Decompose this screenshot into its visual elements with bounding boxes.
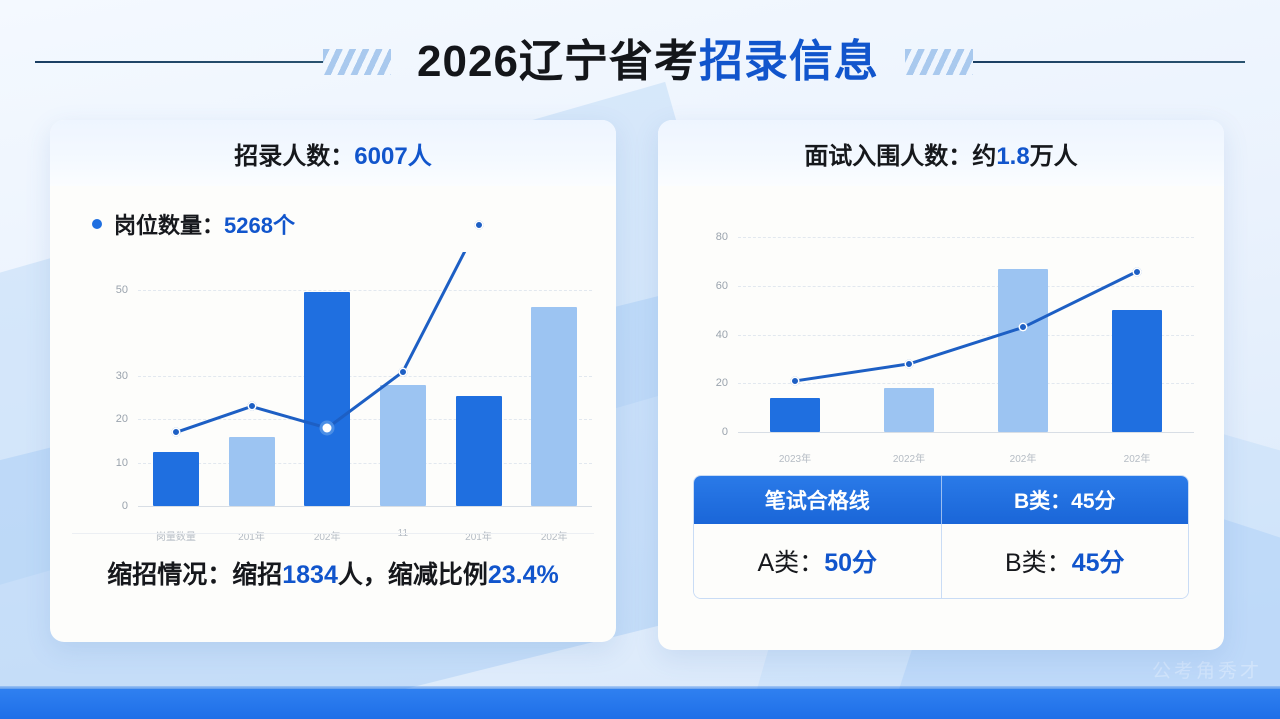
page-title: 2026辽宁省考招录信息 [417, 40, 879, 84]
table-cell-class-a: A类：50分 [694, 524, 942, 598]
left-card-title-label: 招录人数： [234, 143, 354, 170]
trend-point [398, 367, 407, 376]
table-header-cell-2: B类：45分 [942, 476, 1189, 524]
trend-point [247, 402, 256, 411]
trend-point [1133, 267, 1142, 276]
right-card-header: 面试入围人数：约1.8万人 [658, 120, 1224, 186]
trend-point [474, 220, 483, 229]
interview-shortlist-card: 面试入围人数：约1.8万人 0204060802023年2022年202年202… [658, 120, 1224, 650]
title-hatch-left-icon [323, 49, 391, 75]
table-header-row: 笔试合格线 B类：45分 [694, 476, 1188, 524]
trend-line [694, 204, 1194, 466]
trend-point [171, 428, 180, 437]
left-card-title-value: 6007人 [354, 143, 431, 170]
page-title-accent: 招录信息 [699, 37, 879, 86]
class-b-score: 45分 [1072, 543, 1125, 579]
table-row: A类：50分 B类：45分 [694, 524, 1188, 598]
bottom-accent-band [0, 689, 1280, 719]
right-card-title-label: 面试入围人数：约 [804, 143, 996, 170]
left-bar-line-chart: 010203050岗量数量201年202年11201年202年 [92, 252, 592, 542]
left-card-body: 岗位数量：5268个 010203050岗量数量201年202年11201年20… [50, 186, 616, 542]
title-rule-left [35, 61, 323, 63]
reduction-percent: 23.4% [488, 561, 559, 589]
pass-line-table: 笔试合格线 B类：45分 A类：50分 B类：45分 [693, 475, 1189, 599]
table-header-cell-1: 笔试合格线 [694, 476, 942, 524]
legend-dot-icon [92, 219, 102, 229]
legend-value: 5268个 [224, 213, 295, 238]
class-a-label: A类： [758, 543, 825, 579]
trend-point [791, 376, 800, 385]
class-b-label: B类： [1005, 543, 1072, 579]
right-bar-line-chart: 0204060802023年2022年202年202年 [694, 204, 1194, 466]
left-chart-legend: 岗位数量：5268个 [50, 186, 616, 240]
legend-text: 岗位数量：5268个 [114, 208, 295, 240]
left-card-divider [72, 533, 594, 534]
right-card-title-value: 1.8 [996, 143, 1029, 170]
left-card-header: 招录人数：6007人 [50, 120, 616, 186]
class-a-score: 50分 [824, 543, 877, 579]
recruitment-count-card: 招录人数：6007人 岗位数量：5268个 010203050岗量数量201年2… [50, 120, 616, 642]
trend-point [323, 424, 332, 433]
legend-label: 岗位数量： [114, 213, 224, 238]
reduction-note: 缩招情况：缩招1834人，缩减比例23.4% [50, 555, 616, 591]
right-card-title-suffix: 万人 [1030, 143, 1078, 170]
trend-point [1019, 323, 1028, 332]
title-hatch-right-icon [905, 49, 973, 75]
table-cell-class-b: B类：45分 [942, 524, 1189, 598]
reduction-note-prefix: 缩招情况：缩招 [107, 561, 282, 589]
trend-point [905, 359, 914, 368]
right-card-title: 面试入围人数：约1.8万人 [804, 136, 1077, 171]
reduction-number: 1834 [282, 561, 338, 589]
trend-line [92, 252, 592, 542]
reduction-note-mid: 人，缩减比例 [338, 561, 488, 589]
watermark-text: 公考角秀才 [1152, 656, 1262, 683]
left-card-title: 招录人数：6007人 [234, 136, 431, 171]
page-title-plain: 2026辽宁省考 [417, 37, 699, 86]
title-rule-right [973, 61, 1245, 63]
right-card-body: 0204060802023年2022年202年202年 [658, 204, 1224, 466]
page-title-bar: 2026辽宁省考招录信息 [0, 30, 1280, 94]
